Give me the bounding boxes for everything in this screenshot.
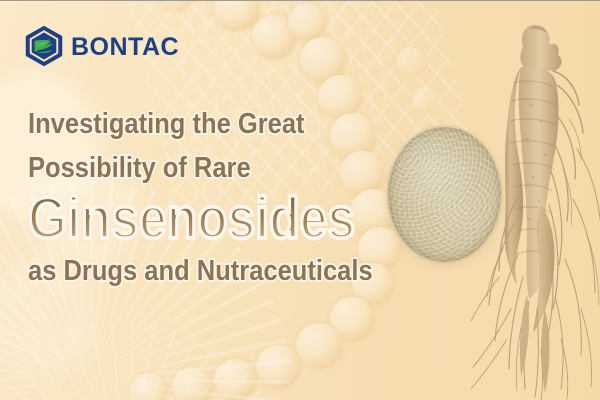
headline-block: Investigating the Great Possibility of R… [28,109,408,286]
headline-line-2: Possibility of Rare [28,153,362,183]
ginseng-root-image [469,9,600,400]
brand-name: BONTAC [71,35,179,60]
headline-emphasis-ginsenosides: Ginsenosides [28,190,355,248]
ginsenosides-promo-banner: BONTAC [0,0,600,400]
headline-line-1: Investigating the Great [28,109,362,139]
headline-line-4: as Drugs and Nutraceuticals [28,256,362,286]
bontac-hexagon-logo-icon [24,25,64,67]
brand-logo[interactable]: BONTAC [24,25,179,67]
